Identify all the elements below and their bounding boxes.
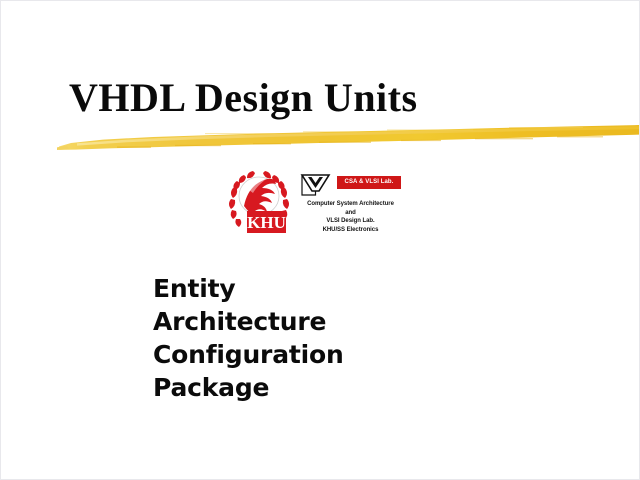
vlsi-funnel-v-symbol: [299, 171, 335, 198]
lab-caption-line-2: and: [297, 209, 404, 218]
brushstroke-icon: [57, 121, 640, 155]
lab-caption-line-4: KHU/SS Electronics: [297, 226, 404, 235]
slide-title: VHDL Design Units: [69, 75, 418, 121]
lab-caption-line-1: Computer System Architecture: [297, 200, 404, 209]
khu-crest: KHU: [227, 166, 291, 238]
list-item-entity: Entity: [153, 274, 344, 304]
presentation-slide: VHDL Design Units: [0, 0, 640, 480]
lab-caption: Computer System Architecture and VLSI De…: [297, 200, 404, 234]
list-item-package: Package: [153, 373, 344, 403]
lab-banner-text: CSA & VLSI Lab.: [337, 176, 401, 189]
khu-crest-icon: KHU: [227, 166, 291, 238]
list-item-configuration: Configuration: [153, 340, 344, 370]
logo-band: KHU CSA & VLSI Lab. Computer System Arch…: [227, 166, 402, 244]
design-units-list: Entity Architecture Configuration Packag…: [153, 274, 344, 406]
lab-mark: CSA & VLSI Lab. Computer System Architec…: [299, 171, 402, 241]
list-item-architecture: Architecture: [153, 307, 344, 337]
title-underline-brushstroke: [57, 121, 640, 155]
vlsi-funnel-v-icon: [299, 171, 335, 198]
lab-caption-line-3: VLSI Design Lab.: [297, 217, 404, 226]
khu-crest-abbreviation: KHU: [247, 213, 286, 232]
